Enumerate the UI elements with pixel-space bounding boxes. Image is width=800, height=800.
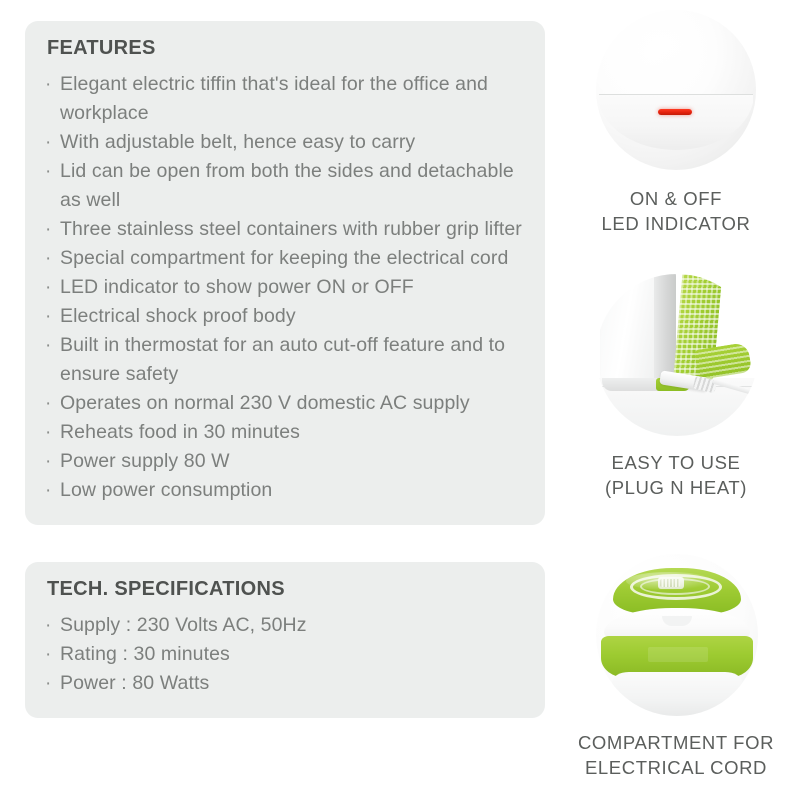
bullet-text: Power supply 80 W: [60, 447, 525, 476]
bullet-dot-icon: ·: [45, 302, 60, 331]
bullet-dot-icon: ·: [45, 273, 60, 302]
circular-photo-crop: [596, 274, 758, 436]
bullet-text: Low power consumption: [60, 476, 525, 505]
features-panel: FEATURES ·Elegant electric tiffin that's…: [25, 21, 545, 525]
bullet-text: Built in thermostat for an auto cut-off …: [60, 331, 525, 389]
bullet-text: Rating : 30 minutes: [60, 640, 525, 669]
feature-list-item: ·Special compartment for keeping the ele…: [45, 244, 525, 273]
bullet-dot-icon: ·: [45, 157, 60, 186]
spec-list-item: ·Supply : 230 Volts AC, 50Hz: [45, 611, 525, 640]
bullet-text: Operates on normal 230 V domestic AC sup…: [60, 389, 525, 418]
product-lid-led-photo: [592, 8, 760, 176]
feature-list-item: ·Operates on normal 230 V domestic AC su…: [45, 389, 525, 418]
feature-list-item: ·Reheats food in 30 minutes: [45, 418, 525, 447]
bullet-dot-icon: ·: [45, 476, 60, 505]
spec-list-item: ·Rating : 30 minutes: [45, 640, 525, 669]
feature-list-item: ·Lid can be open from both the sides and…: [45, 157, 525, 215]
bullet-text: With adjustable belt, hence easy to carr…: [60, 128, 525, 157]
bullet-text: Elegant electric tiffin that's ideal for…: [60, 70, 525, 128]
lid-highlight: [622, 22, 708, 80]
feature-list-item: ·Elegant electric tiffin that's ideal fo…: [45, 70, 525, 128]
bullet-dot-icon: ·: [45, 418, 60, 447]
info-panels-column: FEATURES ·Elegant electric tiffin that's…: [25, 21, 545, 718]
green-lid-gloss: [626, 572, 712, 590]
spec-list-item: ·Power : 80 Watts: [45, 669, 525, 698]
tiffin-round-body: [596, 554, 758, 716]
caption-line-2: (PLUG N HEAT): [552, 475, 800, 500]
feature-caption-led-indicator: ON & OFF LED INDICATOR: [552, 186, 800, 236]
white-base-shape: [612, 672, 742, 716]
bullet-text: Lid can be open from both the sides and …: [60, 157, 525, 215]
feature-list-item: ·Low power consumption: [45, 476, 525, 505]
product-infographic-page: FEATURES ·Elegant electric tiffin that's…: [0, 0, 800, 800]
caption-line-1: ON & OFF: [552, 186, 800, 211]
product-cord-compartment-photo: [592, 552, 760, 720]
bullet-dot-icon: ·: [45, 389, 60, 418]
bullet-text: Power : 80 Watts: [60, 669, 525, 698]
bullet-text: LED indicator to show power ON or OFF: [60, 273, 525, 302]
caption-line-2: ELECTRICAL CORD: [552, 755, 800, 780]
tech-specifications-list: ·Supply : 230 Volts AC, 50Hz·Rating : 30…: [45, 611, 525, 698]
bullet-text: Electrical shock proof body: [60, 302, 525, 331]
bullet-dot-icon: ·: [45, 611, 60, 640]
feature-list-item: ·Three stainless steel containers with r…: [45, 215, 525, 244]
feature-list-item: ·Power supply 80 W: [45, 447, 525, 476]
feature-block-cord-compartment: COMPARTMENT FOR ELECTRICAL CORD: [552, 552, 800, 780]
bullet-text: Supply : 230 Volts AC, 50Hz: [60, 611, 525, 640]
caption-line-1: EASY TO USE: [552, 450, 800, 475]
features-panel-title: FEATURES: [47, 37, 525, 60]
bullet-text: Reheats food in 30 minutes: [60, 418, 525, 447]
caption-line-1: COMPARTMENT FOR: [552, 730, 800, 755]
feature-block-led-indicator: ON & OFF LED INDICATOR: [552, 8, 800, 236]
led-indicator-light: [658, 109, 692, 115]
bullet-dot-icon: ·: [45, 128, 60, 157]
feature-caption-cord-compartment: COMPARTMENT FOR ELECTRICAL CORD: [552, 730, 800, 780]
feature-block-easy-to-use: EASY TO USE (PLUG N HEAT): [552, 272, 800, 500]
caption-line-2: LED INDICATOR: [552, 211, 800, 236]
brand-emboss: [648, 647, 708, 662]
bullet-dot-icon: ·: [45, 331, 60, 360]
bullet-text: Special compartment for keeping the elec…: [60, 244, 525, 273]
feature-caption-easy-to-use: EASY TO USE (PLUG N HEAT): [552, 450, 800, 500]
feature-list-item: ·LED indicator to show power ON or OFF: [45, 273, 525, 302]
bullet-dot-icon: ·: [45, 447, 60, 476]
feature-images-column: ON & OFF LED INDICATOR: [552, 0, 800, 800]
tech-specifications-panel: TECH. SPECIFICATIONS ·Supply : 230 Volts…: [25, 562, 545, 718]
tech-specifications-panel-title: TECH. SPECIFICATIONS: [47, 578, 525, 601]
features-list: ·Elegant electric tiffin that's ideal fo…: [45, 70, 525, 505]
feature-list-item: ·With adjustable belt, hence easy to car…: [45, 128, 525, 157]
bullet-dot-icon: ·: [45, 215, 60, 244]
bullet-dot-icon: ·: [45, 70, 60, 99]
feature-list-item: ·Built in thermostat for an auto cut-off…: [45, 331, 525, 389]
bullet-dot-icon: ·: [45, 244, 60, 273]
bullet-dot-icon: ·: [45, 669, 60, 698]
product-plug-strap-photo: [592, 272, 760, 440]
feature-list-item: ·Electrical shock proof body: [45, 302, 525, 331]
bullet-dot-icon: ·: [45, 640, 60, 669]
bullet-text: Three stainless steel containers with ru…: [60, 215, 525, 244]
